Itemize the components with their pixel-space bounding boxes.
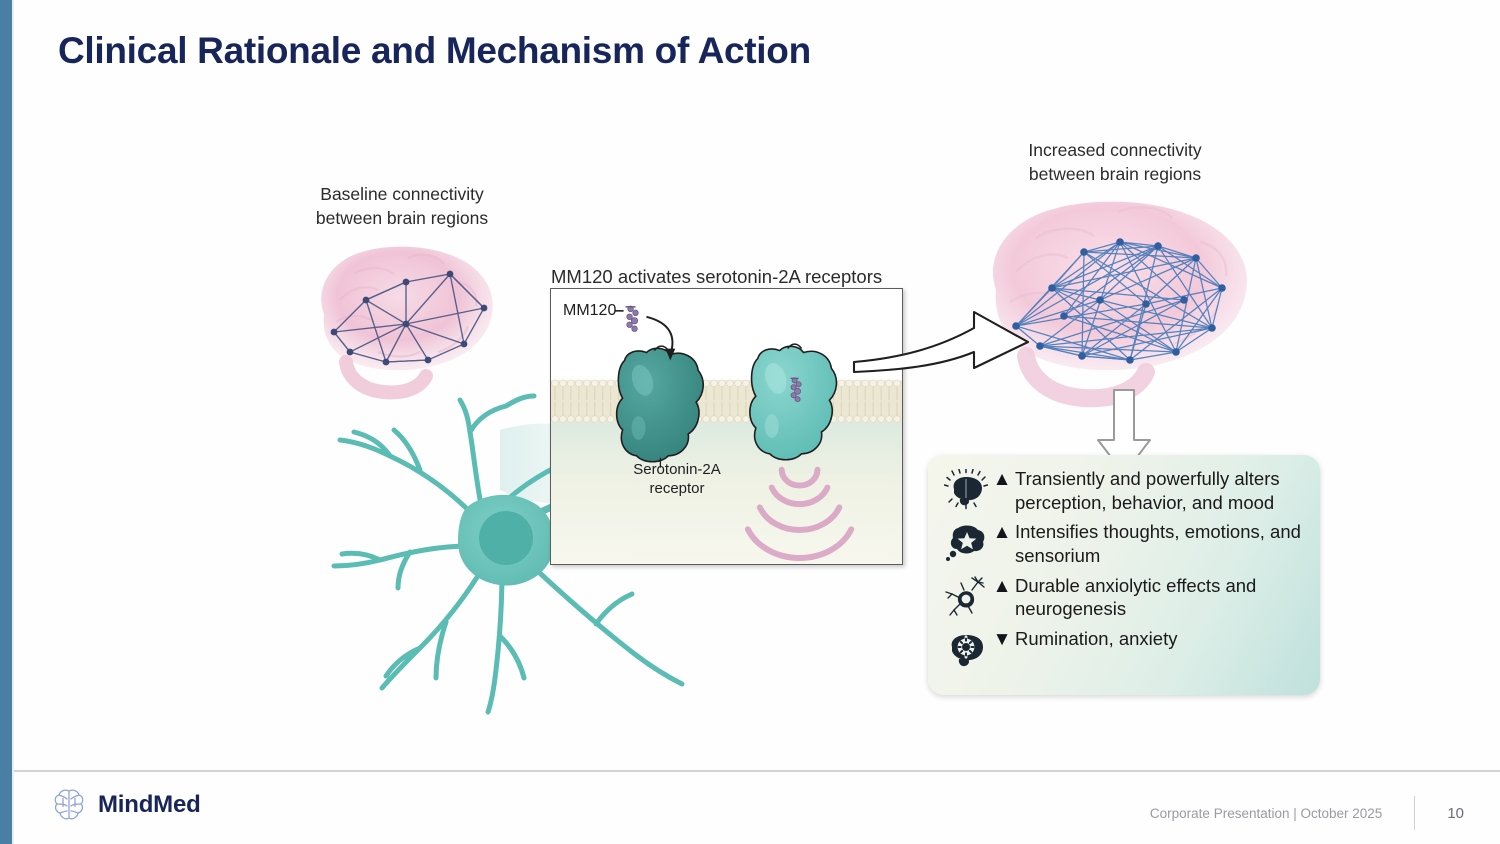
effect-direction-arrow: ▲ xyxy=(992,520,1012,545)
radiating-brain-icon xyxy=(940,467,992,513)
footer-meta: Corporate Presentation | October 2025 10 xyxy=(1150,796,1464,830)
serotonin-receptor-label: Serotonin-2A receptor xyxy=(607,461,747,499)
effect-text: Rumination, anxiety xyxy=(1012,627,1177,651)
slide-canvas: Clinical Rationale and Mechanism of Acti… xyxy=(0,0,1500,844)
footer-note: Corporate Presentation | October 2025 xyxy=(1150,806,1414,821)
effect-item-anxiolytic: ▲ Durable anxiolytic effects and neuroge… xyxy=(940,574,1306,621)
effect-text: Durable anxiolytic effects and neurogene… xyxy=(1012,574,1306,621)
effect-item-perception: ▲ Transiently and powerfully alters perc… xyxy=(940,467,1306,514)
neuron-cell-icon xyxy=(940,574,992,620)
effect-item-rumination: ▼ Rumination, anxiety xyxy=(940,627,1306,673)
effect-direction-arrow: ▼ xyxy=(992,627,1012,652)
effect-direction-arrow: ▲ xyxy=(992,574,1012,599)
mindmed-brain-logo-icon xyxy=(52,786,86,824)
viewer-left-rail xyxy=(0,0,12,844)
footer-divider xyxy=(14,770,1500,772)
brain-gear-icon xyxy=(940,627,992,673)
effect-item-intensifies: ▲ Intensifies thoughts, emotions, and se… xyxy=(940,520,1306,567)
curved-right-arrow-icon xyxy=(852,306,1032,386)
viewer-rail-edge xyxy=(12,0,14,844)
effect-text: Transiently and powerfully alters percep… xyxy=(1012,467,1306,514)
brand-name: MindMed xyxy=(98,791,201,819)
page-title: Clinical Rationale and Mechanism of Acti… xyxy=(58,30,811,72)
thought-bubble-star-icon xyxy=(940,520,992,566)
effect-direction-arrow: ▲ xyxy=(992,467,1012,492)
receptor-mechanism-panel: MM120 Serotonin-2A receptor xyxy=(550,288,903,565)
panel-title: MM120 activates serotonin-2A receptors xyxy=(551,266,882,288)
page-number: 10 xyxy=(1415,805,1464,822)
effect-text: Intensifies thoughts, emotions, and sens… xyxy=(1012,520,1306,567)
effects-summary-box: ▲ Transiently and powerfully alters perc… xyxy=(928,455,1320,695)
mm120-ligand-label: MM120 xyxy=(563,301,616,321)
brand-logo: MindMed xyxy=(52,786,201,824)
